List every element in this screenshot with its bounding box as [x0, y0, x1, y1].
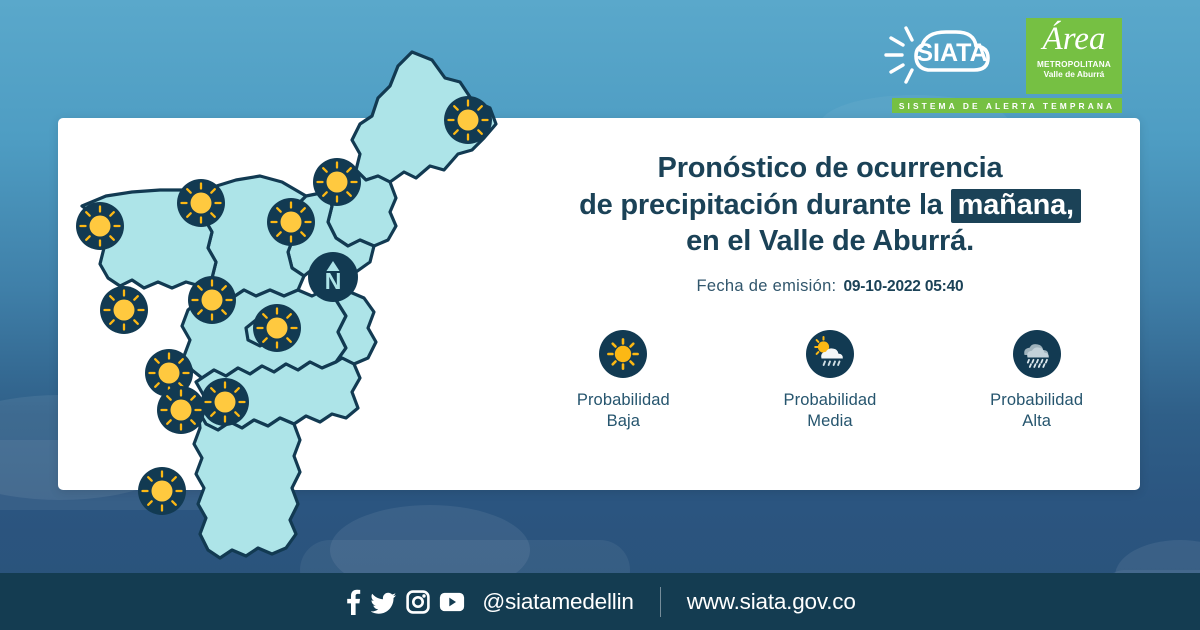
issue-date-label: Fecha de emisión:: [697, 277, 837, 296]
footer-bar: @siatamedellin www.siata.gov.co: [0, 573, 1200, 630]
legend-item-media[interactable]: Probabilidad Media: [750, 330, 910, 432]
area-script-word: Área: [1031, 18, 1117, 60]
issue-date-value: 09-10-2022 05:40: [843, 278, 963, 296]
probability-legend: Probabilidad Baja Probabilidad Med: [520, 330, 1140, 432]
social-handle[interactable]: @siatamedellin: [482, 589, 633, 615]
area-sub-valle: Valle de Aburrá: [1044, 70, 1105, 80]
siata-logo[interactable]: SIATA: [882, 20, 1020, 90]
logo-group: SIATA Área METROPOLITANA Valle de Aburrá…: [882, 18, 1122, 110]
sun-icon: [599, 330, 647, 378]
forecast-text-block: Pronóstico de ocurrencia de precipitació…: [520, 150, 1140, 296]
siata-tagline: SISTEMA DE ALERTA TEMPRANA: [892, 98, 1122, 113]
title-line-1: Pronóstico de ocurrencia: [520, 150, 1140, 187]
legend-label-line1: Probabilidad: [543, 390, 703, 411]
social-links: [344, 589, 465, 615]
legend-label-line1: Probabilidad: [957, 390, 1117, 411]
area-sub-metropolitana: METROPOLITANA: [1037, 61, 1111, 69]
area-metropolitana-logo[interactable]: Área METROPOLITANA Valle de Aburrá: [1026, 18, 1122, 94]
title-line-2: de precipitación durante la mañana,: [520, 187, 1140, 224]
area-word-text: Área: [1041, 20, 1106, 57]
siata-logo-text: SIATA: [916, 39, 987, 67]
cloud-rain-icon: [1013, 330, 1061, 378]
website-url[interactable]: www.siata.gov.co: [687, 589, 856, 615]
instagram-icon[interactable]: [406, 590, 430, 614]
youtube-icon[interactable]: [439, 592, 465, 612]
legend-label-line2: Alta: [957, 411, 1117, 432]
issue-date-row: Fecha de emisión: 09-10-2022 05:40: [520, 277, 1140, 296]
facebook-icon[interactable]: [344, 589, 362, 615]
legend-label-line1: Probabilidad: [750, 390, 910, 411]
legend-label-alta: Probabilidad Alta: [957, 390, 1117, 432]
legend-label-media: Probabilidad Media: [750, 390, 910, 432]
title-highlight: mañana,: [951, 189, 1081, 223]
sun-cloud-rain-icon: [806, 330, 854, 378]
twitter-icon[interactable]: [371, 589, 397, 615]
title-line-2-text: de precipitación durante la: [579, 189, 943, 221]
title-line-3: en el Valle de Aburrá.: [520, 223, 1140, 260]
legend-item-alta[interactable]: Probabilidad Alta: [957, 330, 1117, 432]
page-title: Pronóstico de ocurrencia de precipitació…: [520, 150, 1140, 260]
legend-label-line2: Baja: [543, 411, 703, 432]
legend-item-baja[interactable]: Probabilidad Baja: [543, 330, 703, 432]
legend-label-baja: Probabilidad Baja: [543, 390, 703, 432]
footer-divider: [660, 587, 661, 617]
legend-label-line2: Media: [750, 411, 910, 432]
